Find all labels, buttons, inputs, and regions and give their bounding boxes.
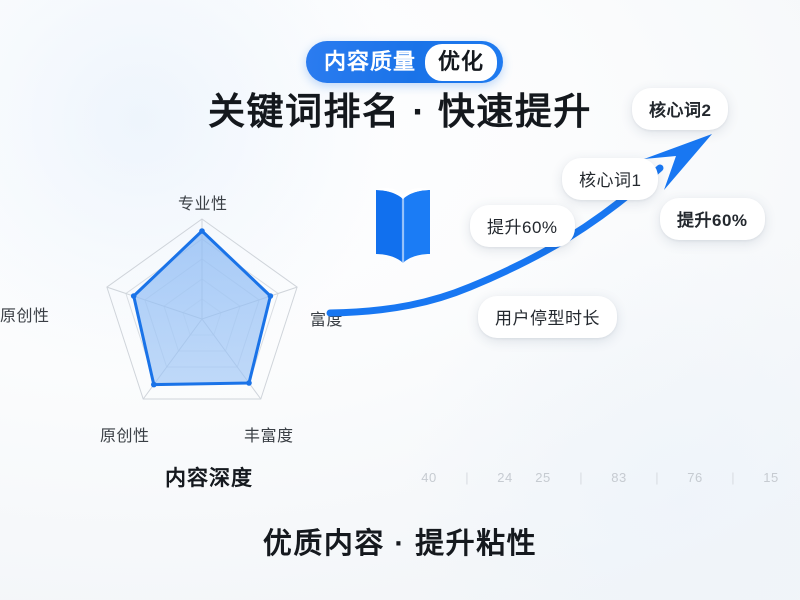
axis-tick-6: | [638,470,676,485]
radar-chart: 专业性 富度 丰富度 原创性 原创性 [52,214,352,444]
radar-label-top: 专业性 [178,190,228,214]
open-book-icon [372,182,434,266]
radar-data-polygon [134,231,271,385]
axis-tick-9: 15 [752,470,790,485]
radar-label-right: 富度 [310,306,343,330]
pill-uplift-right[interactable]: 提升60% [660,198,765,240]
radar-label-bottom-left: 原创性 [100,422,150,446]
radar-label-bottom-right: 丰富度 [244,422,294,446]
axis-tick-3: 25 [524,470,562,485]
content-quality-badge[interactable]: 内容质量 优化 [306,41,503,83]
secondary-axis-strip: 40 | 24 25 | 83 | 76 | 15 [410,466,790,488]
radar-label-left: 原创性 [0,302,50,326]
axis-tick-5: 83 [600,470,638,485]
badge-main-label: 内容质量 [324,51,425,73]
pill-uplift-left[interactable]: 提升60% [470,205,575,247]
content-depth-label: 内容深度 [165,462,253,492]
axis-tick-7: 76 [676,470,714,485]
badge-pill-label: 优化 [425,44,497,81]
axis-tick-2: 24 [486,470,524,485]
pill-keyword-1[interactable]: 核心词1 [562,158,658,200]
axis-tick-0: 40 [410,470,448,485]
pill-keyword-2[interactable]: 核心词2 [632,88,728,130]
axis-tick-8: | [714,470,752,485]
radar-chart-svg [52,214,352,444]
axis-tick-1: | [448,470,486,485]
pill-dwell-time[interactable]: 用户停型时长 [478,296,617,338]
footer-title: 优质内容 · 提升粘性 [0,520,800,562]
axis-tick-4: | [562,470,600,485]
slide-canvas: 内容质量 优化 关键词排名 · 快速提升 [0,0,800,600]
